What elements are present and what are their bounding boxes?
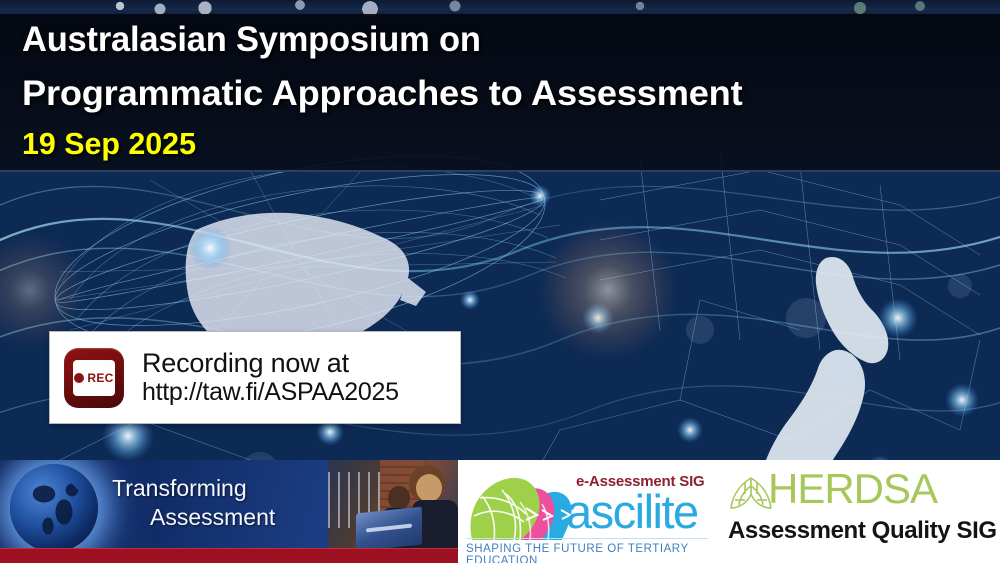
ta-name-line-1: Transforming	[112, 474, 275, 503]
laptop-icon	[356, 507, 422, 548]
recording-notice-text: Recording now at http://taw.fi/ASPAA2025	[142, 348, 399, 407]
rec-icon: REC	[64, 348, 124, 408]
ta-accent-bar	[0, 548, 458, 563]
title-line-1: Australasian Symposium on	[22, 22, 964, 57]
person-2-head	[416, 474, 442, 502]
herdsa-wordmark: HERDSA	[768, 468, 937, 510]
logo-ascilite-e-assessment-sig[interactable]: e-Assessment SIG ascilite SHAPING THE FU…	[458, 460, 716, 563]
event-date: 19 Sep 2025	[22, 126, 959, 162]
slide-canvas: Australasian Symposium on Programmatic A…	[0, 0, 1000, 563]
title-line-2: Programmatic Approaches to Assessment	[22, 76, 1000, 111]
recording-url[interactable]: http://taw.fi/ASPAA2025	[142, 378, 399, 407]
logo-herdsa-assessment-quality-sig[interactable]: HERDSA Assessment Quality SIG	[716, 460, 1000, 563]
ascilite-divider	[466, 538, 708, 539]
ascilite-wordmark: ascilite	[566, 488, 698, 535]
logo-transforming-assessment[interactable]: Transforming Assessment	[0, 460, 458, 563]
recording-notice-card: REC Recording now at http://taw.fi/ASPAA…	[49, 331, 461, 424]
slide-heading: Australasian Symposium on Programmatic A…	[22, 18, 978, 162]
sponsor-logo-strip: Transforming Assessment	[0, 460, 1000, 563]
recording-notice-line: Recording now at	[142, 348, 399, 378]
rec-icon-label: REC	[87, 372, 113, 384]
person-1-head	[388, 486, 410, 510]
record-dot-icon	[74, 373, 84, 383]
ta-name-line-2: Assessment	[150, 503, 275, 532]
ascilite-tagline: SHAPING THE FUTURE OF TERTIARY EDUCATION	[466, 543, 716, 563]
herdsa-sub-label: Assessment Quality SIG	[728, 517, 997, 545]
people-with-laptop-photo	[328, 460, 458, 548]
rec-icon-screen: REC	[73, 360, 115, 396]
transforming-assessment-wordmark: Transforming Assessment	[112, 474, 275, 533]
globe-icon	[10, 464, 98, 552]
ascilite-heads-icon	[466, 470, 576, 542]
